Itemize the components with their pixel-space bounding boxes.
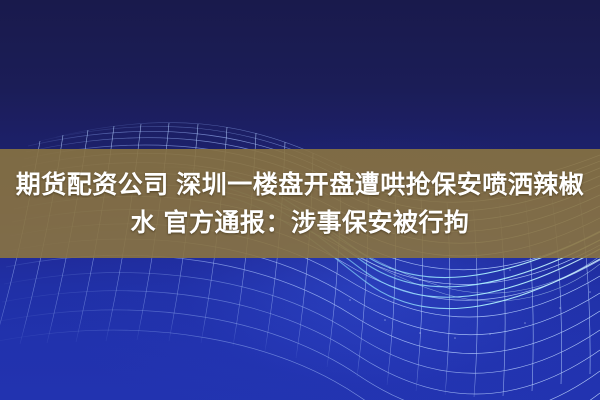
headline-text: 期货配资公司 深圳一楼盘开盘遭哄抢保安喷洒辣椒水 官方通报：涉事保安被行拘 [4, 166, 596, 242]
headline-container: 期货配资公司 深圳一楼盘开盘遭哄抢保安喷洒辣椒水 官方通报：涉事保安被行拘 [0, 166, 600, 242]
banner-image: 期货配资公司 深圳一楼盘开盘遭哄抢保安喷洒辣椒水 官方通报：涉事保安被行拘 [0, 0, 600, 400]
headline-band: 期货配资公司 深圳一楼盘开盘遭哄抢保安喷洒辣椒水 官方通报：涉事保安被行拘 [0, 149, 600, 258]
